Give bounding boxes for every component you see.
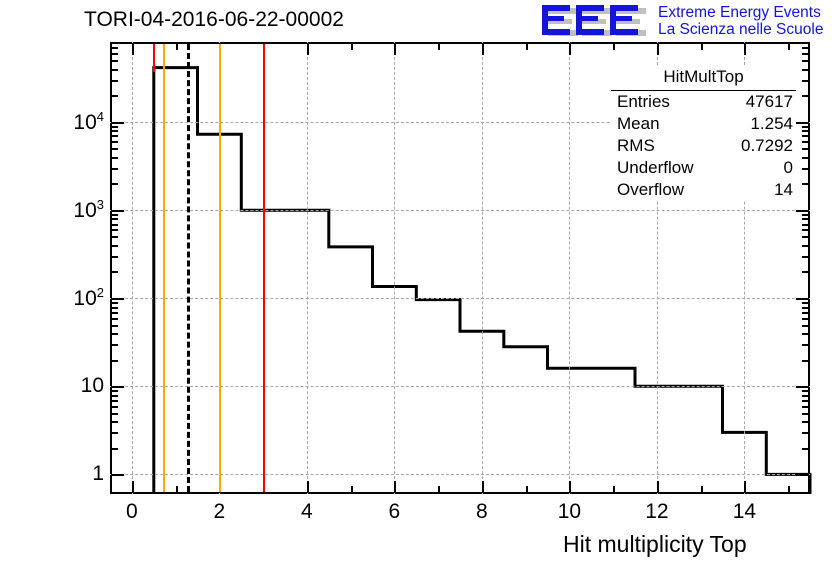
y-axis-tick-right xyxy=(802,395,809,397)
x-axis-tick-top xyxy=(176,43,178,50)
y-axis-tick xyxy=(111,474,124,476)
y-axis-tick xyxy=(111,344,118,346)
gridline-vertical xyxy=(569,42,570,494)
stats-rows: Entries47617Mean1.254RMS0.7292Underflow0… xyxy=(611,91,796,201)
y-axis-tick-right xyxy=(796,474,809,476)
x-axis-tick-top xyxy=(526,43,528,50)
y-axis-tick xyxy=(111,214,118,216)
y-axis-tick-right xyxy=(802,218,809,220)
y-axis-label: 103 xyxy=(48,197,104,223)
x-axis-label: 12 xyxy=(645,500,668,524)
stats-box: HitMultTop Entries47617Mean1.254RMS0.729… xyxy=(611,66,796,201)
stats-row-key: Mean xyxy=(617,114,660,134)
x-axis-tick xyxy=(132,481,134,493)
y-axis-tick xyxy=(111,360,118,362)
gridline-vertical xyxy=(132,42,133,494)
y-axis-tick-right xyxy=(802,80,809,82)
x-axis-label: 6 xyxy=(389,500,401,524)
orange-line-high xyxy=(219,44,221,492)
x-axis-tick xyxy=(701,486,703,493)
y-axis-tick xyxy=(111,421,118,423)
y-axis-tick xyxy=(111,126,118,128)
y-axis-tick-right xyxy=(796,122,809,124)
y-axis-tick-right xyxy=(802,325,809,327)
y-axis-tick xyxy=(111,312,118,314)
y-axis-tick-right xyxy=(802,312,809,314)
y-axis-tick-right xyxy=(802,157,809,159)
x-axis-tick xyxy=(613,486,615,493)
y-axis-tick xyxy=(111,47,118,49)
y-axis-tick xyxy=(111,386,124,388)
y-axis-tick-right xyxy=(802,141,809,143)
y-axis-tick xyxy=(111,318,118,320)
y-axis-label: 104 xyxy=(48,109,104,135)
gridline-vertical xyxy=(394,42,395,494)
y-axis-label: 10 xyxy=(48,374,104,398)
x-axis-tick xyxy=(351,486,353,493)
y-axis-tick xyxy=(111,80,118,82)
y-axis-tick-right xyxy=(802,307,809,309)
x-axis-tick xyxy=(307,481,309,493)
y-axis-tick-right xyxy=(802,448,809,450)
y-axis-tick xyxy=(111,245,118,247)
y-axis-tick xyxy=(111,42,118,44)
x-axis-tick xyxy=(526,486,528,493)
y-axis-tick xyxy=(111,95,118,97)
x-axis-label: 10 xyxy=(558,500,581,524)
y-axis-label: 1 xyxy=(48,462,104,486)
y-axis-tick xyxy=(111,122,124,124)
stats-row: Mean1.254 xyxy=(611,113,796,135)
x-axis-tick-top xyxy=(482,43,484,55)
y-axis-tick xyxy=(111,148,118,150)
y-axis-tick xyxy=(111,302,118,304)
x-axis-tick xyxy=(438,486,440,493)
y-axis-tick-right xyxy=(802,271,809,273)
y-axis-label: 102 xyxy=(48,285,104,311)
y-axis-tick xyxy=(111,141,118,143)
y-axis-tick xyxy=(111,406,118,408)
x-axis-tick xyxy=(394,481,396,493)
red-line-high xyxy=(263,44,265,492)
y-axis-tick-right xyxy=(802,224,809,226)
stats-row-value: 0.7292 xyxy=(741,136,793,156)
stats-row-value: 47617 xyxy=(746,92,793,112)
y-axis-tick xyxy=(111,325,118,327)
y-axis-tick xyxy=(111,218,118,220)
x-axis-tick-top xyxy=(613,43,615,50)
y-axis-tick-right xyxy=(802,333,809,335)
x-axis-tick-top xyxy=(701,43,703,50)
y-axis-tick xyxy=(111,183,118,185)
y-axis-tick xyxy=(111,210,124,212)
y-axis-tick xyxy=(111,298,124,300)
x-axis-title: Hit multiplicity Top xyxy=(563,531,747,558)
x-axis-tick-top xyxy=(788,43,790,50)
y-axis-tick-right xyxy=(802,135,809,137)
x-axis-tick xyxy=(657,481,659,493)
y-axis-tick xyxy=(111,224,118,226)
y-axis-tick xyxy=(111,130,118,132)
gridline-vertical xyxy=(482,42,483,494)
y-axis-tick-right xyxy=(802,130,809,132)
y-axis-tick-right xyxy=(802,60,809,62)
gridline-horizontal xyxy=(110,474,810,475)
x-axis-tick xyxy=(744,481,746,493)
stats-row: Overflow14 xyxy=(611,179,796,201)
stats-row-value: 1.254 xyxy=(750,114,793,134)
x-axis-tick xyxy=(569,481,571,493)
y-axis-tick xyxy=(111,53,118,55)
x-axis-tick xyxy=(482,481,484,493)
stats-row-key: RMS xyxy=(617,136,655,156)
x-axis-label: 8 xyxy=(476,500,488,524)
y-axis-tick xyxy=(111,432,118,434)
y-axis-tick-right xyxy=(802,360,809,362)
y-axis-tick-right xyxy=(802,47,809,49)
y-axis-tick xyxy=(111,236,118,238)
y-axis-tick xyxy=(111,157,118,159)
y-axis-tick-right xyxy=(802,245,809,247)
y-axis-tick xyxy=(111,69,118,71)
x-axis-tick-top xyxy=(657,43,659,55)
y-axis-tick xyxy=(111,400,118,402)
x-axis-tick xyxy=(788,486,790,493)
gridline-horizontal xyxy=(110,210,810,211)
stats-row: Underflow0 xyxy=(611,157,796,179)
x-axis-tick-top xyxy=(132,43,134,55)
gridline-horizontal xyxy=(110,386,810,387)
y-axis-tick xyxy=(111,390,118,392)
y-axis-tick xyxy=(111,307,118,309)
y-axis-tick xyxy=(111,229,118,231)
y-axis-tick-right xyxy=(802,214,809,216)
y-axis-tick xyxy=(111,413,118,415)
root-canvas: TORI-04-2016-06-22-00002 xyxy=(0,0,836,572)
y-axis-tick xyxy=(111,135,118,137)
dashed-mean-line xyxy=(187,44,190,492)
x-axis-label: 14 xyxy=(733,500,756,524)
y-axis-tick-right xyxy=(802,400,809,402)
y-axis-tick-right xyxy=(802,413,809,415)
gridline-horizontal xyxy=(110,298,810,299)
y-axis-tick xyxy=(111,395,118,397)
y-axis-tick-right xyxy=(802,69,809,71)
y-axis-tick xyxy=(111,271,118,273)
y-axis-tick-right xyxy=(802,406,809,408)
y-axis-tick xyxy=(111,168,118,170)
stats-row-key: Overflow xyxy=(617,180,684,200)
y-axis-tick-right xyxy=(802,95,809,97)
stats-row-value: 0 xyxy=(784,158,793,178)
y-axis-tick-right xyxy=(796,386,809,388)
y-axis-tick-right xyxy=(802,53,809,55)
stats-row: RMS0.7292 xyxy=(611,135,796,157)
y-axis-tick-right xyxy=(802,168,809,170)
x-axis-tick-top xyxy=(307,43,309,55)
x-axis-tick-top xyxy=(394,43,396,55)
y-axis-tick-right xyxy=(802,183,809,185)
y-axis-tick-right xyxy=(802,318,809,320)
orange-line-low xyxy=(163,44,165,492)
y-axis-tick-right xyxy=(802,126,809,128)
x-axis-tick xyxy=(176,486,178,493)
y-axis-tick-right xyxy=(802,256,809,258)
y-axis-tick-right xyxy=(802,148,809,150)
stats-row-key: Entries xyxy=(617,92,670,112)
y-axis-tick xyxy=(111,256,118,258)
x-axis-tick-top xyxy=(569,43,571,55)
stats-title: HitMultTop xyxy=(611,66,796,91)
y-axis-tick-right xyxy=(802,432,809,434)
x-axis-label: 0 xyxy=(126,500,138,524)
stats-row: Entries47617 xyxy=(611,91,796,113)
x-axis-tick-top xyxy=(351,43,353,50)
stats-row-key: Underflow xyxy=(617,158,694,178)
stats-row-value: 14 xyxy=(774,180,793,200)
x-axis-tick-top xyxy=(744,43,746,55)
y-axis-tick-right xyxy=(802,302,809,304)
y-axis-tick-right xyxy=(802,236,809,238)
x-axis-tick-top xyxy=(438,43,440,50)
y-axis-tick xyxy=(111,448,118,450)
gridline-vertical xyxy=(307,42,308,494)
y-axis-tick-right xyxy=(796,298,809,300)
x-axis-label: 4 xyxy=(301,500,313,524)
y-axis-tick xyxy=(111,60,118,62)
y-axis-tick-right xyxy=(802,42,809,44)
y-axis-tick-right xyxy=(802,390,809,392)
y-axis-tick-right xyxy=(802,344,809,346)
y-axis-tick-right xyxy=(802,229,809,231)
x-axis-label: 2 xyxy=(214,500,226,524)
red-line-low xyxy=(153,44,155,72)
y-axis-tick-right xyxy=(796,210,809,212)
y-axis-tick-right xyxy=(802,421,809,423)
y-axis-tick xyxy=(111,333,118,335)
